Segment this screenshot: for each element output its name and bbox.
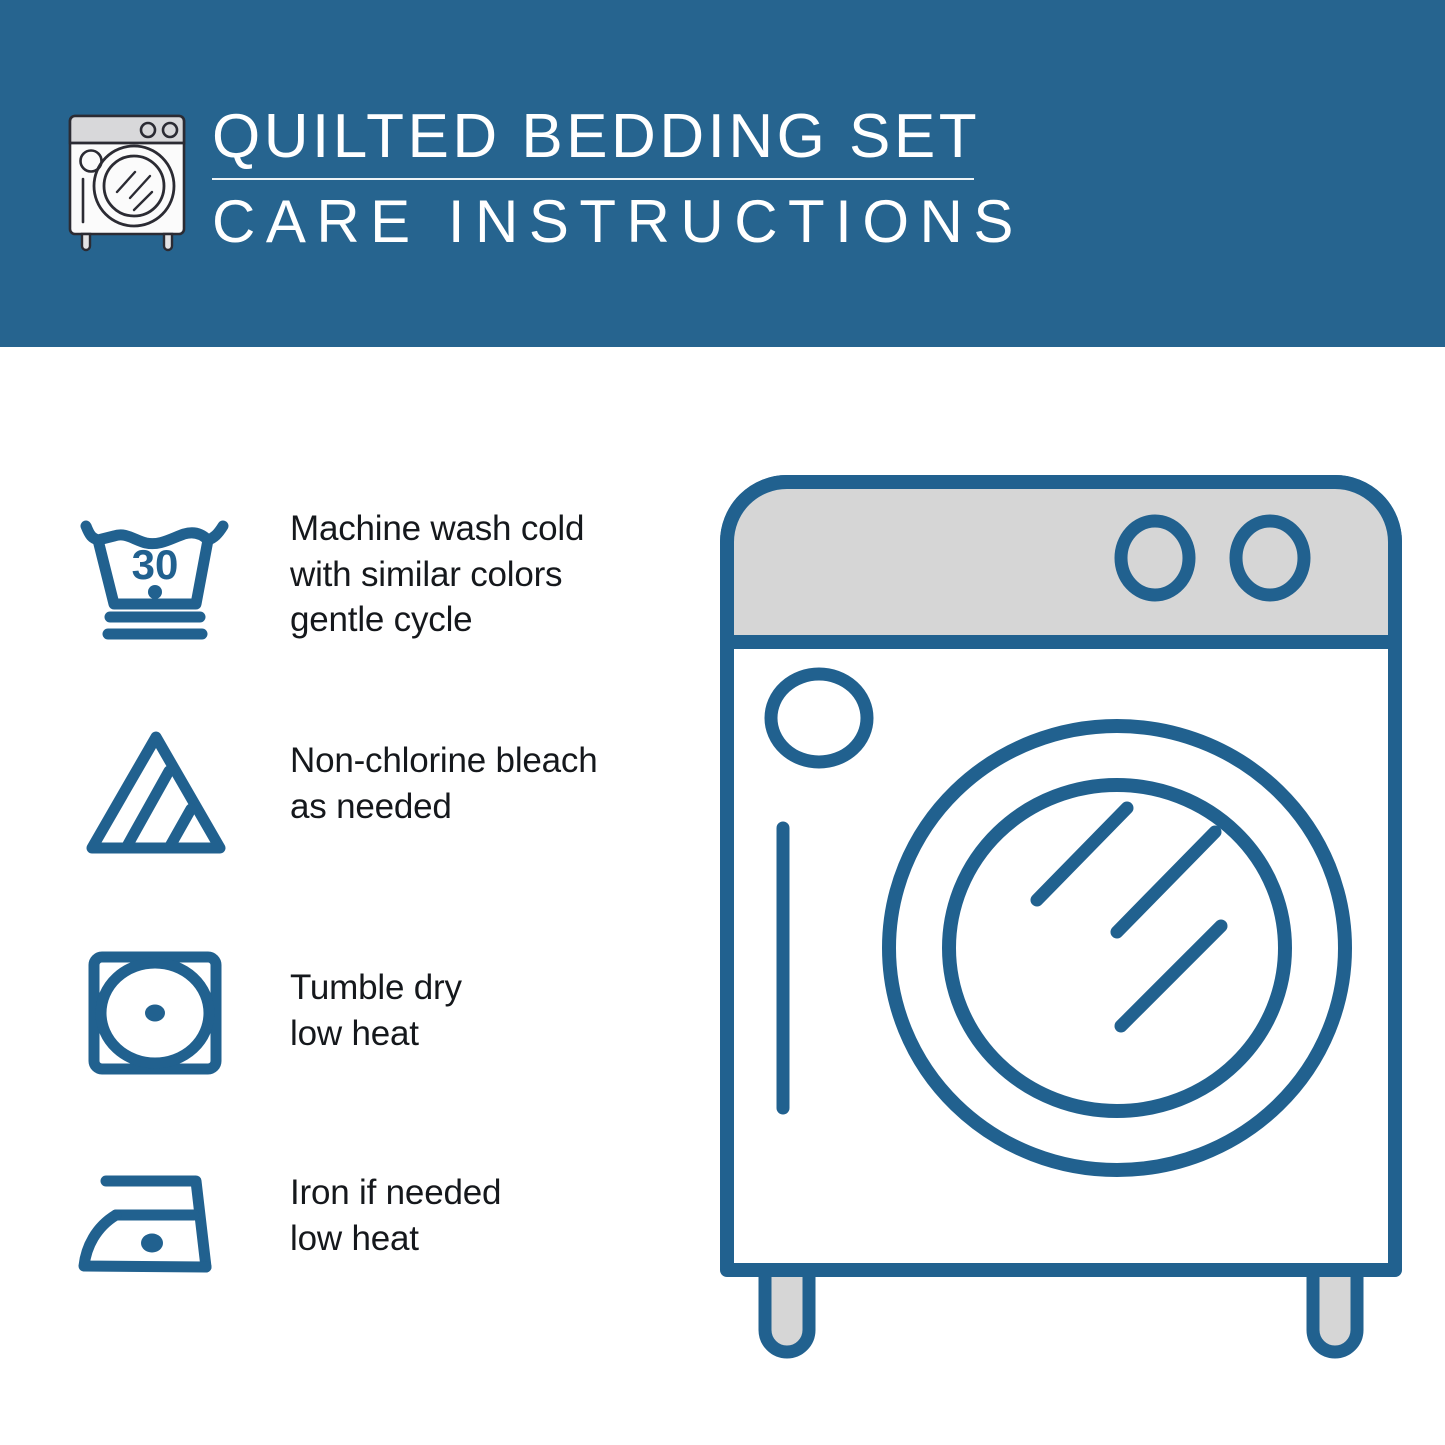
non-chlorine-bleach-symbol [68,715,243,890]
washing-machine-icon [62,100,192,255]
list-item-label: Non-chlorine bleach as needed [290,738,690,829]
knob-right [1236,521,1304,595]
front-load-washing-machine-illustration [715,470,1405,1370]
header-band: QUILTED BEDDING SET CARE INSTRUCTIONS [0,0,1445,347]
list-item: Iron if needed low heat [0,470,700,680]
list-item-label: Tumble dry low heat [290,965,690,1056]
header-text-block: QUILTED BEDDING SET CARE INSTRUCTIONS [212,104,1012,255]
iron-low-heat-symbol [68,1135,243,1310]
list-item-label: Iron if needed low heat [290,1170,690,1261]
page-subtitle: CARE INSTRUCTIONS [212,190,1012,255]
leg-right [1313,1270,1357,1352]
care-instructions-infographic: QUILTED BEDDING SET CARE INSTRUCTIONS [0,0,1445,1445]
leg-left [765,1270,809,1352]
title-divider [212,178,974,180]
knob-left [1121,521,1189,595]
tumble-dry-low-heat-symbol [68,925,243,1100]
page-title: QUILTED BEDDING SET [212,104,1012,170]
